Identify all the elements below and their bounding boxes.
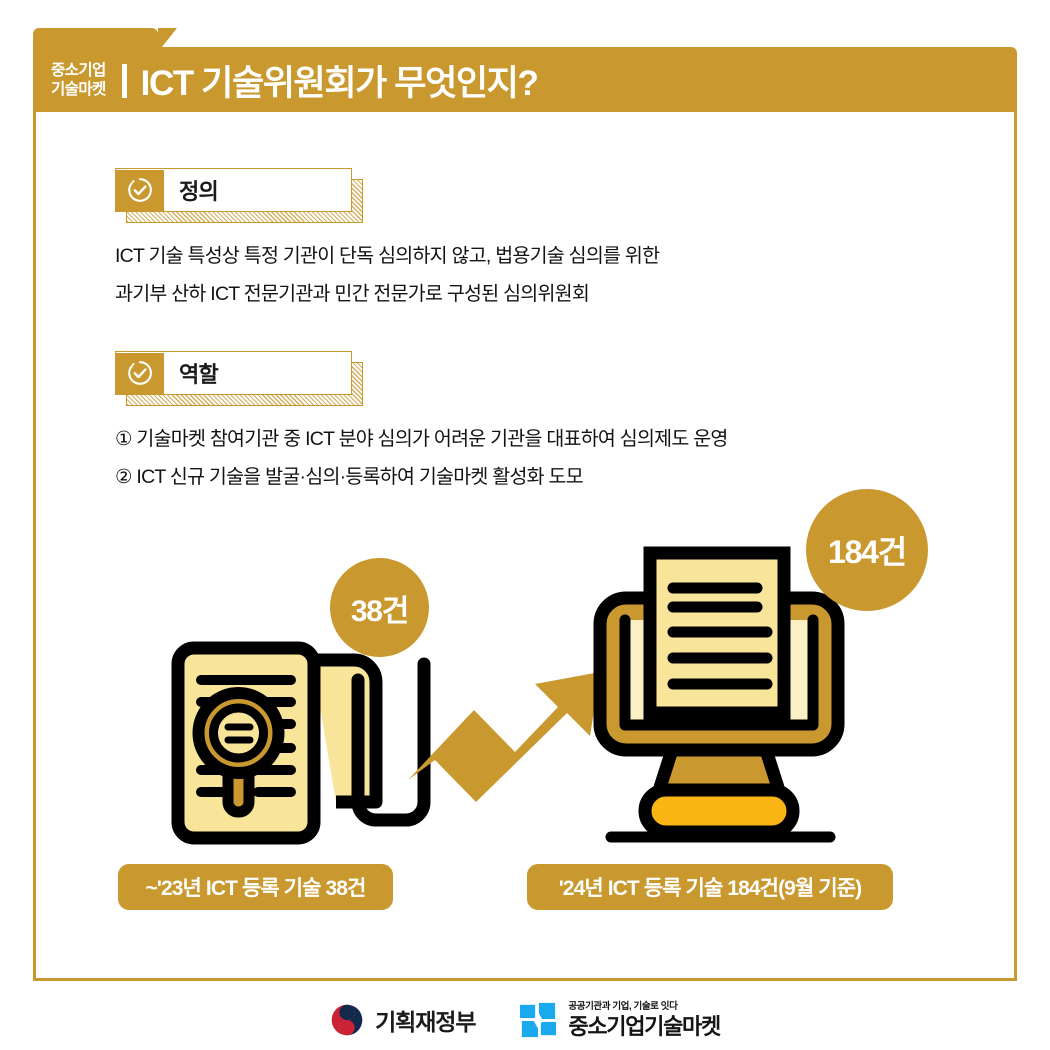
badge-count-38: 38건 — [330, 558, 429, 657]
taegeuk-logo-icon — [330, 1003, 364, 1037]
smtm-text-group: 공공기관과 기업, 기술로 잇다 중소기업기술마켓 — [568, 1002, 720, 1038]
check-circle-icon — [116, 353, 164, 394]
section-label-definition: 정의 — [115, 168, 352, 212]
mof-logo-group: 기획재정부 — [330, 1003, 475, 1037]
check-circle-icon — [116, 170, 164, 211]
section-label-role: 역할 — [115, 351, 352, 395]
page-title: ICT 기술위원회가 무엇인지? — [141, 55, 538, 106]
header-content: 중소기업 기술마켓 ICT 기술위원회가 무엇인지? — [33, 47, 1017, 114]
section-label-box: 정의 — [115, 168, 352, 212]
infographic-page: 중소기업 기술마켓 ICT 기술위원회가 무엇인지? 정의 ICT 기술 특성상… — [0, 0, 1050, 1050]
brand-mark: 중소기업 기술마켓 — [51, 62, 106, 99]
mof-name-text: 기획재정부 — [375, 1003, 475, 1037]
header: 중소기업 기술마켓 ICT 기술위원회가 무엇인지? — [33, 28, 1017, 114]
vertical-bar-icon — [122, 64, 127, 98]
section-label-text: 정의 — [179, 174, 218, 206]
section-body-definition: ICT 기술 특성상 특정 기관이 단독 심의하지 않고, 법용기술 심의를 위… — [115, 237, 659, 313]
section-label-box: 역할 — [115, 351, 352, 395]
caption-pill-2023: ~'23년 ICT 등록 기술 38건 — [118, 864, 393, 910]
smtm-name-text: 중소기업기술마켓 — [568, 1016, 720, 1038]
section-label-text: 역할 — [179, 357, 218, 389]
caption-pill-2024: '24년 ICT 등록 기술 184건(9월 기준) — [527, 864, 893, 910]
badge-count-184: 184건 — [806, 489, 928, 611]
footer: 기획재정부 공공기관과 기업, 기술로 잇다 중소기업기술마켓 — [0, 992, 1050, 1048]
smtm-logo-group: 공공기관과 기업, 기술로 잇다 중소기업기술마켓 — [519, 1001, 720, 1039]
section-body-role: ① 기술마켓 참여기관 중 ICT 분야 심의가 어려운 기관을 대표하여 심의… — [115, 420, 728, 496]
smtm-tagline: 공공기관과 기업, 기술로 잇다 — [568, 1002, 720, 1012]
smtm-square-logo-icon — [519, 1001, 557, 1039]
